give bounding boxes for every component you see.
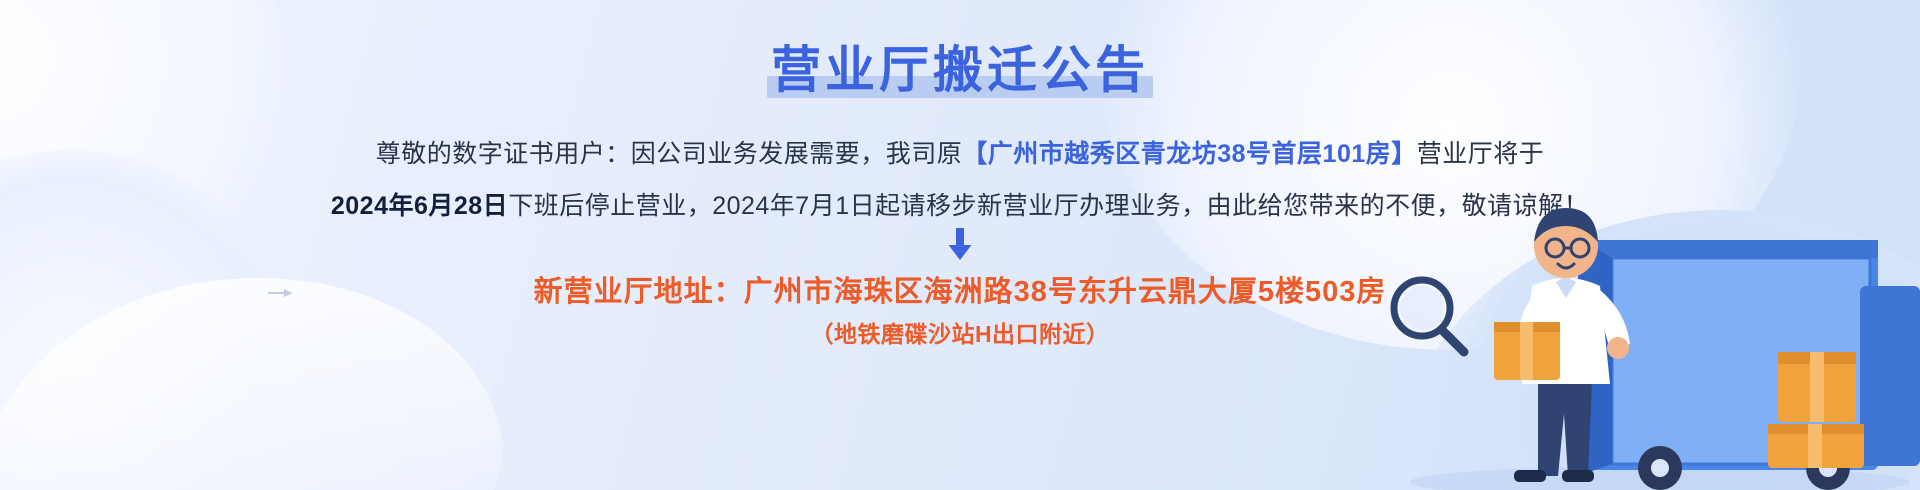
closing-date-highlight: 2024年6月28日 [331, 192, 508, 220]
page-title: 营业厅搬迁公告 [771, 30, 1149, 102]
old-address-highlight: 【广州市越秀区青龙坊38号首层101房】 [962, 140, 1417, 168]
announcement-banner: 营业厅搬迁公告 尊敬的数字证书用户：因公司业务发展需要，我司原【广州市越秀区青龙… [0, 0, 1920, 490]
arrow-down-icon [945, 228, 975, 262]
title-box: 营业厅搬迁公告 [761, 30, 1159, 102]
line1-segment-lead: 尊敬的数字证书用户：因公司业务发展需要，我司原 [376, 140, 963, 168]
moving-truck-illustration [1360, 90, 1920, 490]
